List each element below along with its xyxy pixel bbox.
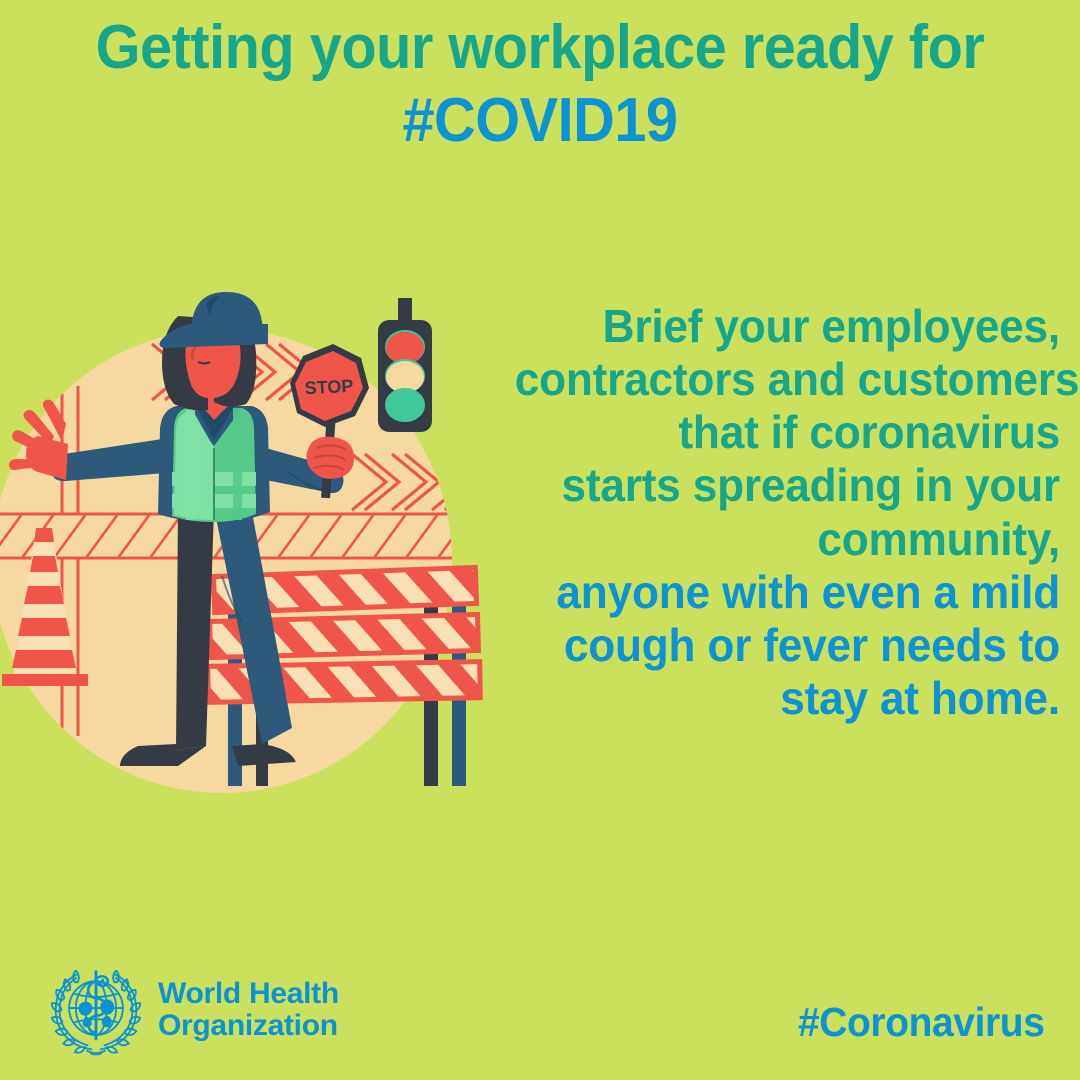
body-line-8: stay at home. <box>515 672 1060 725</box>
who-covid19-poster: Getting your workplace ready for #COVID1… <box>0 0 1080 1080</box>
body-line-7: cough or fever needs to <box>515 619 1060 672</box>
body-line-1: Brief your employees, <box>515 300 1060 353</box>
who-logo: World Health Organization <box>48 962 339 1058</box>
body-line-5: community, <box>515 513 1060 566</box>
body-line-2: contractors and customers <box>515 353 1060 406</box>
body-line-3: that if coronavirus <box>515 406 1060 459</box>
traffic-light-green <box>386 390 424 422</box>
body-message: Brief your employees, contractors and cu… <box>492 300 1060 725</box>
who-wordmark-line2: Organization <box>158 1010 339 1042</box>
who-emblem-icon <box>48 962 144 1058</box>
traffic-light <box>378 298 432 432</box>
title-line-hashtag: #COVID19 <box>38 91 1042 152</box>
coronavirus-hashtag: #Coronavirus <box>797 999 1044 1046</box>
body-line-4: starts spreading in your <box>515 459 1060 512</box>
hatched-road-band <box>0 514 520 558</box>
body-line-6: anyone with even a mild <box>515 566 1060 619</box>
who-wordmark-line1: World Health <box>158 978 339 1010</box>
poster-title: Getting your workplace ready for #COVID1… <box>0 18 1080 152</box>
traffic-cone-base <box>2 674 88 686</box>
stop-sign-text: STOP <box>304 376 354 399</box>
illustration-traffic-controller: STOP <box>0 276 520 856</box>
who-wordmark: World Health Organization <box>158 978 339 1043</box>
title-line-primary: Getting your workplace ready for <box>38 18 1042 79</box>
